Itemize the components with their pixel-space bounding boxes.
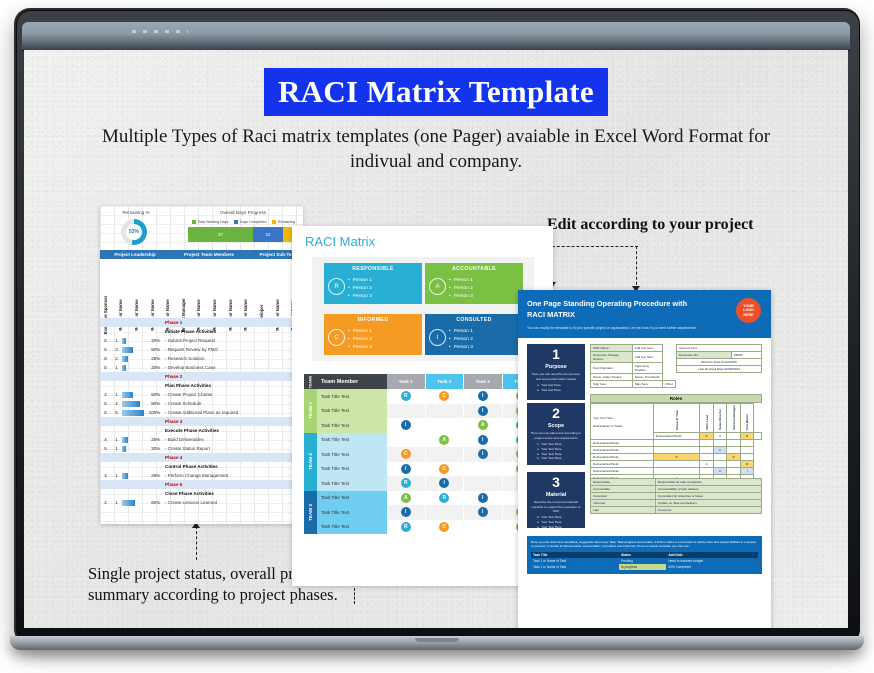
roles-row-label: Deliverables/Tasks — [591, 468, 654, 475]
task-cell[interactable] — [426, 404, 465, 419]
document-meta-row: Add text here — [677, 345, 762, 352]
task-cell[interactable]: C — [426, 520, 465, 535]
phase-activity-label: Execute Phase Activities — [162, 428, 219, 433]
task-cell[interactable]: I — [426, 476, 465, 491]
task-progress-bar — [122, 437, 144, 443]
legend-row: ConsultedConsultant for Advertise or Ide… — [591, 493, 762, 500]
page-subtitle: Multiple Types of Raci matrix templates … — [84, 124, 788, 174]
device-trackpad-notch-icon — [415, 638, 459, 642]
team-task-row[interactable]: TEAM 1Task Title TextRCIA — [304, 389, 541, 404]
sop-section-purpose: 1 Purpose Here you can describe the proc… — [527, 344, 585, 400]
task-cell[interactable] — [426, 418, 465, 433]
task-col-2: 1 — [111, 365, 122, 370]
roles-cell[interactable] — [727, 461, 741, 468]
task-cell[interactable]: C — [426, 389, 465, 404]
roles-header-row: Your Text HereDeliverables or TasksName … — [591, 404, 762, 433]
raci-badge-A: A — [478, 420, 488, 430]
sop-header: One Page Standing Operating Procedure wi… — [518, 290, 771, 338]
task-percent: 60% — [144, 500, 162, 505]
task-col-2: 1 — [111, 473, 122, 478]
raci-badge-I: I — [478, 391, 488, 401]
team-task-row[interactable]: Task Title TextRI — [304, 476, 541, 491]
legend-definition: Update on Task and delivers — [656, 500, 762, 507]
task-row[interactable]: 5120%- Create Status Report — [100, 444, 303, 453]
purpose-info-row: Document Storage Source:Add text here — [591, 352, 676, 363]
legend-term: Informed — [591, 500, 656, 507]
raci-badge-R: R — [401, 478, 411, 488]
roles-table-title: Roles — [590, 394, 762, 403]
task-progress-bar — [122, 338, 144, 344]
roles-cell[interactable] — [700, 454, 714, 461]
task-col-1: 4 — [100, 437, 111, 442]
edit-note-label: Edit according to your project — [547, 216, 754, 234]
task-label: - Develop Business Case — [162, 365, 303, 370]
roles-cell[interactable] — [713, 454, 727, 461]
task-cell[interactable]: R — [426, 491, 465, 506]
roles-cell[interactable] — [654, 440, 700, 447]
task-percent: 50% — [144, 347, 162, 352]
task-col-1: 5 — [100, 401, 111, 406]
sop-document-meta-table: Add text hereDocument No:25689Effective … — [676, 344, 762, 373]
team-member-cell: Task Title Text — [317, 404, 387, 419]
team-task-row[interactable]: Task Title TextICA — [304, 462, 541, 477]
task-cell[interactable]: R — [387, 520, 426, 535]
roles-column-header: Name of Task — [654, 404, 700, 433]
task-col-1: 4 — [100, 473, 111, 478]
roles-cell[interactable] — [700, 440, 714, 447]
sop-subtitle: You can modify the template to fit your … — [527, 326, 759, 330]
roles-cell[interactable] — [727, 468, 741, 475]
phase-label: Phase 4 — [162, 455, 182, 460]
task-row[interactable]: 5120%- Develop Business Case — [100, 363, 303, 372]
legend-term: Late — [591, 507, 656, 514]
section-bullets: Your Text Here Your Text Here Your Text … — [529, 442, 583, 462]
team-label-3: TEAM 3 — [304, 491, 317, 535]
quadrant-title: ACCOUNTABLE — [425, 263, 523, 274]
task-cell[interactable] — [464, 520, 503, 535]
roles-cell[interactable] — [654, 468, 700, 475]
footer-task-note: 60% Completed — [666, 564, 758, 570]
sop-roles-matrix-table: Your Text HereDeliverables or TasksName … — [590, 403, 762, 489]
phase-activity-label: Control Phase Activities — [162, 464, 218, 469]
phase-activity-header-row[interactable]: Control Phase Activities — [100, 462, 303, 471]
task-label: - Create Project Charter — [162, 392, 303, 397]
team-member-cell: Task Title Text — [317, 389, 387, 404]
section-description: Describe the resources/material required… — [529, 500, 583, 513]
device-screen: RACI Matrix Template Multiple Types of R… — [24, 50, 848, 628]
task-col-1: 2 — [100, 500, 111, 505]
team-table-header-row: TEAMSTeam MemberTask 1Task 2Task 3Task 4 — [304, 374, 541, 389]
raci-badge-I: I — [478, 449, 488, 459]
raci-badge-I: I — [401, 507, 411, 517]
section-bullets: Your Text Here Your Text Here Your Text … — [529, 515, 583, 530]
task-progress-bar — [122, 365, 144, 371]
task-cell[interactable]: I — [464, 433, 503, 448]
group-header-project-leadership: Project Leadership — [100, 250, 171, 259]
phase-label: Phase 2 — [162, 374, 182, 379]
task-col-2: 1 — [111, 437, 122, 442]
purpose-info-row: Sign here:Sign here:Other — [591, 381, 676, 388]
team-member-cell: Task Title Text — [317, 505, 387, 520]
raci-quadrants-stage: RESPONSIBLE R Person 1 Person 2 Person 3… — [312, 257, 534, 361]
section-title: Material — [529, 492, 583, 498]
task-col-2: 5 — [111, 410, 122, 415]
task-label: - Perform Change Management — [162, 473, 303, 478]
raci-badge-A: A — [439, 435, 449, 445]
legend-term: Responsible — [591, 479, 656, 486]
task-col-2: 3 — [111, 347, 122, 352]
team-task-row[interactable]: Task Title TextCIA — [304, 447, 541, 462]
phase-label: Phase 1 — [162, 320, 182, 325]
team-task-row[interactable]: Task Title TextIAR — [304, 418, 541, 433]
purpose-info-cell: Approving Position — [632, 363, 662, 374]
role-column-2: Role 3 or Name — [131, 259, 148, 317]
roles-cell[interactable] — [700, 447, 714, 454]
roles-cell[interactable] — [700, 468, 714, 475]
sop-section-scope: 2 Scope Here you can place text accordin… — [527, 403, 585, 465]
task-cell[interactable] — [426, 505, 465, 520]
roles-cell[interactable]: A — [713, 433, 727, 440]
purpose-info-cell: Sign here: — [591, 381, 633, 388]
legend-term: Accountable — [591, 486, 656, 493]
task-cell[interactable] — [387, 404, 426, 419]
team-task-row[interactable]: Task Title TextIIA — [304, 505, 541, 520]
task-col-2: 4 — [111, 401, 122, 406]
laptop-device-mockup: RACI Matrix Template Multiple Types of R… — [0, 0, 874, 673]
purpose-info-cell: Other — [663, 381, 676, 388]
legend-item-remaining: Remaining — [272, 220, 295, 224]
roles-cell[interactable] — [713, 461, 727, 468]
legend-row: InformedUpdate on Task and delivers — [591, 500, 762, 507]
phase-label: Phase 5 — [162, 482, 182, 487]
legend-definition: Accountability of task delivery — [656, 486, 762, 493]
task-row[interactable]: 8225%- Research Solution — [100, 354, 303, 363]
raci-badge-C: C — [401, 449, 411, 459]
header-team-member: Team Member — [317, 374, 387, 389]
roles-cell[interactable]: R — [727, 454, 741, 461]
sop-raci-legend-table: ResponsibleResponsible for task completi… — [590, 478, 762, 514]
team-task-row[interactable]: TEAM 2Task Title TextAIR — [304, 433, 541, 448]
task-col-2: 1 — [111, 500, 122, 505]
task-cell[interactable]: I — [387, 418, 426, 433]
purpose-info-cell: Name: Tina Martin — [632, 374, 662, 381]
footer-task-status: In progress — [619, 564, 666, 570]
quadrant-letter-c: C — [328, 329, 345, 346]
team-task-row[interactable]: Task Title TextRCA — [304, 520, 541, 535]
quadrant-people: Person 1 Person 2 Person 3 — [449, 328, 473, 351]
raci-badge-I: I — [401, 420, 411, 430]
sop-purpose-info-table: SOP Name:Add text hereDocument Storage S… — [590, 344, 676, 388]
sop-document-card[interactable]: One Page Standing Operating Procedure wi… — [518, 290, 771, 628]
task-cell[interactable] — [387, 433, 426, 448]
sop-footer-status-table: Task TitleStatusAdd NoteTask 1 or Name o… — [531, 552, 758, 570]
task-percent: 20% — [144, 365, 162, 370]
raci-matrix-card[interactable]: RACI Matrix RESPONSIBLE R Person 1 Perso… — [292, 226, 553, 586]
phase-row[interactable]: Phase 2 — [100, 372, 303, 381]
excel-dashboard-card[interactable]: Remaining % 53% Overall Days Progress To… — [100, 206, 303, 524]
document-meta-cell: Add text here — [677, 345, 762, 352]
role-column-3: Role 4 or Name — [147, 259, 164, 317]
roles-data-row[interactable]: Deliverables/TasksC — [591, 447, 762, 454]
roles-cell[interactable]: A — [700, 461, 714, 468]
roles-data-row[interactable]: Deliverables/Tasks — [591, 440, 762, 447]
legend-definition: Responsible for task completion — [656, 479, 762, 486]
task-label: - Create Lessons Learned — [162, 500, 303, 505]
task-col-1: 6 — [100, 347, 111, 352]
roles-cell[interactable] — [727, 447, 741, 454]
role-column-5: Project Manager — [178, 259, 195, 317]
roles-cell[interactable]: R — [740, 461, 754, 468]
roles-cell[interactable]: R — [700, 433, 714, 440]
task-cell[interactable]: R — [387, 389, 426, 404]
roles-cell[interactable]: C — [713, 468, 727, 475]
purpose-info-cell: Sop Originator: — [591, 363, 633, 374]
role-column-1: Role 2 or Name — [116, 259, 133, 317]
remaining-percent-label: Remaining % — [106, 210, 166, 215]
document-meta-cell: Effective Date 01/04/2025 — [677, 359, 762, 366]
phase-activity-label: Plan Phase Activities — [162, 383, 211, 388]
task-cell[interactable] — [426, 447, 465, 462]
roles-cell[interactable] — [754, 433, 762, 440]
task-row[interactable]: 4125%- Perform Change Management — [100, 471, 303, 480]
footer-task-row[interactable]: Task 1 or Name of TaskIn progress60% Com… — [531, 564, 758, 570]
sop-title: One Page Standing Operating Procedure wi… — [527, 298, 707, 320]
roles-cell[interactable] — [740, 440, 754, 447]
roles-column-header: Sales Director — [713, 404, 727, 433]
raci-badge-I: I — [478, 493, 488, 503]
task-cell[interactable]: A — [426, 433, 465, 448]
roles-row-label: Deliverables/Tasks — [591, 461, 654, 468]
role-column-4: Role 5 or Name — [162, 259, 179, 317]
raci-badge-I: I — [401, 464, 411, 474]
document-meta-row: Last Revised Date 02/08/2024 — [677, 366, 762, 373]
bar-segment-total: 37 — [188, 227, 253, 242]
purpose-info-cell: Add text here — [632, 352, 662, 363]
task-cell[interactable]: C — [426, 462, 465, 477]
task-col-2: 1 — [111, 338, 122, 343]
section-number: 2 — [529, 406, 583, 421]
roles-column-header: Service Manager — [727, 404, 741, 433]
roles-row-label: Deliverables/Tasks — [591, 454, 654, 461]
legend-definition: Consultant for Advertise or Ideas — [656, 493, 762, 500]
roles-cell[interactable] — [740, 447, 754, 454]
task-progress-bar — [122, 446, 144, 452]
task-progress-bar — [122, 473, 144, 479]
team-member-cell: Task Title Text — [317, 491, 387, 506]
quadrant-accountable[interactable]: ACCOUNTABLE A Person 1 Person 2 Person 3 — [425, 263, 523, 304]
task-progress-bar — [122, 410, 144, 416]
roles-cell[interactable] — [727, 433, 741, 440]
quadrant-informed[interactable]: INFORMED C Person 1 Person 2 Person 3 — [324, 314, 422, 355]
overall-days-progress-label: Overall Days Progress — [188, 210, 298, 215]
roles-cell[interactable] — [654, 447, 700, 454]
role-column-7: Role 3 or Name — [209, 259, 226, 317]
quadrant-title: CONSULTED — [425, 314, 523, 325]
legend-item-total: Total Working Days — [192, 220, 228, 224]
task-cell[interactable]: I — [464, 491, 503, 506]
roles-data-row[interactable]: Deliverables/TasksAR — [591, 461, 762, 468]
quadrant-letter-r: R — [328, 278, 345, 295]
quadrant-people: Person 1 Person 2 Person 3 — [348, 328, 372, 351]
legend-row: ResponsibleResponsible for task completi… — [591, 479, 762, 486]
progress-legend: Total Working Days Days Completed Remain… — [192, 220, 295, 224]
task-col-2: 1 — [111, 446, 122, 451]
roles-row-label: Deliverables/Tasks — [591, 440, 654, 447]
task-percent: 80% — [144, 401, 162, 406]
connector-line-bottom — [196, 526, 197, 560]
team-label-1: TEAM 1 — [304, 389, 317, 433]
quadrant-people: Person 1 Person 2 Person 3 — [348, 277, 372, 300]
roles-cell[interactable]: R — [740, 433, 754, 440]
raci-badge-I: I — [439, 478, 449, 488]
roles-cell[interactable] — [727, 440, 741, 447]
quadrant-title: INFORMED — [324, 314, 422, 325]
task-label: - Build Deliverables — [162, 437, 303, 442]
phase-row[interactable]: Phase 5 — [100, 480, 303, 489]
roles-cell[interactable]: C — [713, 447, 727, 454]
document-meta-row: Effective Date 01/04/2025 — [677, 359, 762, 366]
task-label: - Create Additional Plans as required — [162, 410, 303, 415]
task-cell[interactable] — [464, 476, 503, 491]
task-col-2: 2 — [111, 356, 122, 361]
sop-footer: Here you can add some feedback, suggesti… — [527, 536, 762, 574]
task-cell[interactable]: I — [464, 505, 503, 520]
legend-item-completed: Days Completed — [234, 220, 266, 224]
task-label: - Create Schedule — [162, 401, 303, 406]
roles-data-row[interactable]: Deliverables/TasksRR — [591, 454, 762, 461]
task-cell[interactable]: I — [464, 404, 503, 419]
roles-row-label: Deliverables/Tasks — [591, 447, 654, 454]
task-col-1: 2 — [100, 392, 111, 397]
task-cell[interactable]: C — [387, 447, 426, 462]
task-percent: 25% — [144, 473, 162, 478]
role-column-6: Role 2 or Name — [194, 259, 211, 317]
raci-card-title: RACI Matrix — [305, 234, 375, 249]
header-task-3: Task 3 — [464, 374, 503, 389]
task-cell[interactable]: I — [387, 505, 426, 520]
connector-line-sop-top — [636, 246, 637, 290]
roles-cell[interactable] — [740, 454, 754, 461]
roles-cell[interactable]: I — [740, 468, 754, 475]
raci-badge-I: I — [478, 507, 488, 517]
roles-data-row[interactable]: Deliverables/TasksCI — [591, 468, 762, 475]
role-column-0: Executive Sponsor — [100, 259, 117, 317]
phase-activity-header-row[interactable]: Plan Phase Activities — [100, 381, 303, 390]
purpose-info-cell: SOP Name: — [591, 345, 633, 352]
task-percent: 20% — [144, 446, 162, 451]
task-row[interactable]: 5480%- Create Schedule — [100, 399, 303, 408]
task-col-2: 1 — [111, 392, 122, 397]
legend-definition: Concerns — [656, 507, 762, 514]
document-meta-cell: Last Revised Date 02/08/2024 — [677, 366, 762, 373]
sop-footer-note: Here you can add some feedback, suggesti… — [531, 540, 758, 549]
task-row[interactable]: 4125%- Build Deliverables — [100, 435, 303, 444]
task-col-1: 8 — [100, 356, 111, 361]
section-number: 3 — [529, 475, 583, 490]
task-percent: 50% — [144, 392, 162, 397]
purpose-info-cell: Sign here: — [632, 381, 662, 388]
page-title-banner: RACI Matrix Template — [264, 68, 608, 116]
task-label: - Research Solution — [162, 356, 303, 361]
task-row[interactable]: 55100%- Create Additional Plans as requi… — [100, 408, 303, 417]
legend-term: Consulted — [591, 493, 656, 500]
raci-badge-C: C — [439, 391, 449, 401]
task-progress-bar — [122, 347, 144, 353]
phase-activity-header-row[interactable]: Close Phase Activities — [100, 489, 303, 498]
roles-cell[interactable] — [654, 461, 700, 468]
task-row[interactable]: 5120%- Submit Project Request — [100, 336, 303, 345]
role-column-11: Role 2 or Name — [272, 259, 289, 317]
task-col-1: 5 — [100, 338, 111, 343]
your-logo-here-icon: YOUR LOGO HERE — [736, 298, 761, 323]
quadrant-title: RESPONSIBLE — [324, 263, 422, 274]
task-cell[interactable]: I — [387, 462, 426, 477]
phase-row[interactable]: Phase 4 — [100, 453, 303, 462]
header-teams: TEAMS — [304, 374, 317, 389]
roles-cell[interactable]: R — [654, 454, 700, 461]
header-task-2: Task 2 — [426, 374, 465, 389]
task-label: - Create Status Report — [162, 446, 303, 451]
purpose-info-row: Name: Adam TampaName: Tina Martin — [591, 374, 676, 381]
task-row[interactable]: 2160%- Create Lessons Learned — [100, 498, 303, 507]
phase-activity-label: Initiate Phase Activities — [162, 329, 216, 334]
section-bullets: Your text Here Your text Here — [529, 383, 583, 393]
bar-segment-completed: 22 — [253, 227, 283, 242]
task-cell[interactable] — [464, 462, 503, 477]
phase-row[interactable]: Phase 3 — [100, 417, 303, 426]
device-top-bezel — [22, 22, 850, 51]
phase-activity-header-row[interactable]: Execute Phase Activities — [100, 426, 303, 435]
quadrant-people: Person 1 Person 2 Person 3 — [449, 277, 473, 300]
section-title: Purpose — [529, 364, 583, 370]
task-row[interactable]: 6350%- Request Review by PMO — [100, 345, 303, 354]
quadrant-letter-a: A — [429, 278, 446, 295]
quadrant-responsible[interactable]: RESPONSIBLE R Person 1 Person 2 Person 3 — [324, 263, 422, 304]
purpose-info-cell: Name: Adam Tampa — [591, 374, 633, 381]
roles-caption: Your Text HereDeliverables or Tasks — [591, 404, 654, 440]
document-meta-cell: Document No: — [677, 352, 732, 359]
legend-row: LateConcerns — [591, 507, 762, 514]
task-row[interactable]: 2150%- Create Project Charter — [100, 390, 303, 399]
connector-line-sop-h — [552, 246, 638, 247]
phase-activity-label: Close Phase Activities — [162, 491, 214, 496]
task-cell[interactable]: A — [464, 418, 503, 433]
raci-badge-C: C — [439, 464, 449, 474]
legend-row: AccountableAccountability of task delive… — [591, 486, 762, 493]
team-task-table[interactable]: TEAMSTeam MemberTask 1Task 2Task 3Task 4… — [304, 374, 541, 534]
task-cell[interactable]: I — [464, 389, 503, 404]
group-header-project-team-members: Project Team Members — [170, 250, 249, 259]
team-label-2: TEAM 2 — [304, 433, 317, 491]
purpose-info-row: SOP Name:Add text here — [591, 345, 676, 352]
section-number: 1 — [529, 347, 583, 362]
header-task-1: Task 1 — [387, 374, 426, 389]
task-cell[interactable]: I — [464, 447, 503, 462]
task-percent: 100% — [144, 410, 162, 415]
task-cell[interactable]: A — [387, 491, 426, 506]
phase-activity-header-row[interactable]: Initiate Phase Activities — [100, 327, 303, 336]
task-progress-bar — [122, 356, 144, 362]
phase-row[interactable]: Phase 1 — [100, 318, 303, 327]
task-label: - Request Review by PMO — [162, 347, 303, 352]
task-cell[interactable]: R — [387, 476, 426, 491]
quadrant-consulted[interactable]: CONSULTED I Person 1 Person 2 Person 3 — [425, 314, 523, 355]
roles-cell[interactable] — [713, 440, 727, 447]
roles-row-label: Deliverables/Tasks — [654, 433, 700, 440]
team-task-row[interactable]: Task Title TextIA — [304, 404, 541, 419]
raci-badge-I: I — [478, 435, 488, 445]
team-task-row[interactable]: TEAM 3Task Title TextARI — [304, 491, 541, 506]
